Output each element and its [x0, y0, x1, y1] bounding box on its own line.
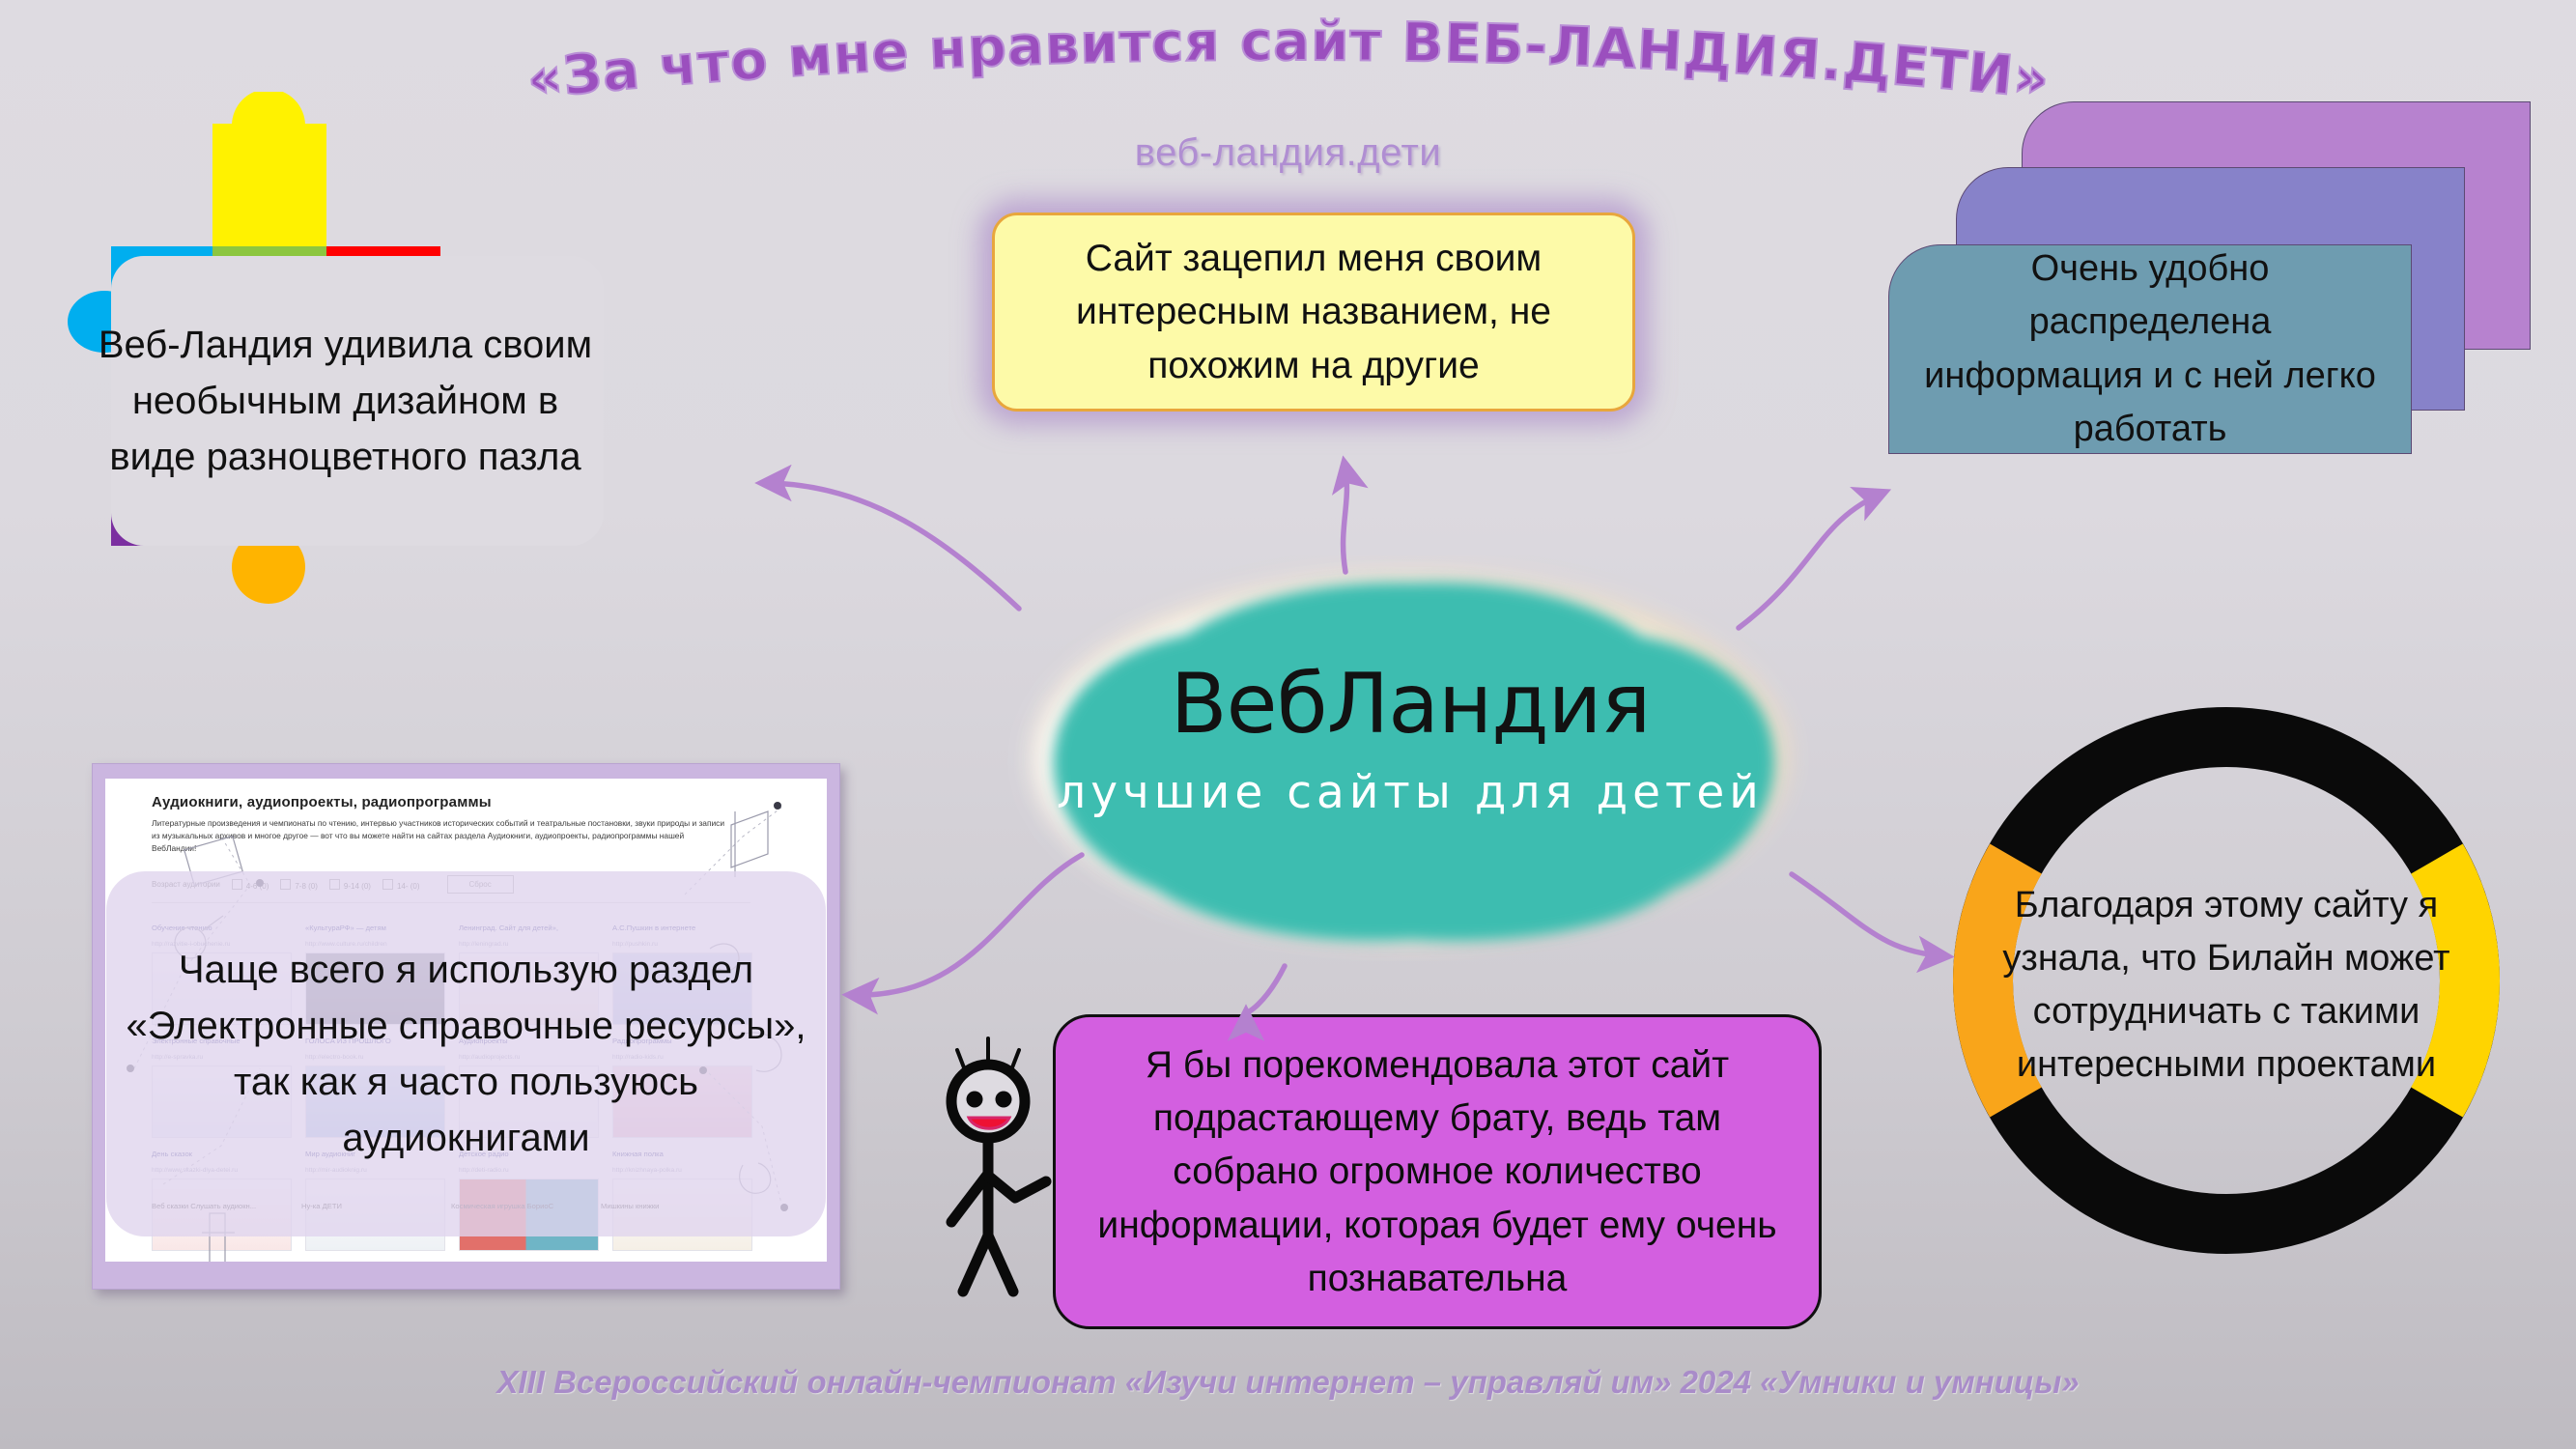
- logo-title: ВебЛандия: [976, 656, 1845, 753]
- callout-stack: Очень удобно распределена информация и с…: [1888, 244, 2412, 454]
- callout-yellow-text: Сайт зацепил меня своим интересным назва…: [995, 232, 1632, 392]
- callout-magenta: Я бы порекомендовала этот сайт подрастаю…: [1053, 1014, 1822, 1329]
- stacked-cards-group: Очень удобно распределена информация и с…: [1888, 101, 2545, 362]
- callout-puzzle-text: Веб-Ландия удивила своим необычным дизай…: [89, 317, 602, 485]
- infographic-canvas: «За что мне нравится сайт ВЕБ-ЛАНДИЯ.ДЕТ…: [0, 0, 2576, 1449]
- callout-screenshot-text: Чаще всего я использую раздел «Электронн…: [106, 942, 826, 1166]
- logo-tagline: лучшие сайты для детей: [976, 766, 1845, 819]
- website-screenshot-card: Аудиокниги, аудиопроекты, радиопрограммы…: [92, 763, 840, 1290]
- callout-yellow: Сайт зацепил меня своим интересным назва…: [992, 213, 1635, 412]
- arrow-to-magenta: [1246, 966, 1285, 1012]
- footer-caption: XIII Всероссийский онлайн-чемпионат «Изу…: [0, 1364, 2576, 1401]
- veblandia-logo: ВебЛандия лучшие сайты для детей: [976, 555, 1845, 961]
- callout-magenta-text: Я бы порекомендовала этот сайт подрастаю…: [1056, 1038, 1819, 1306]
- beeline-logo-ring: Благодаря этому сайту я узнала, что Била…: [1951, 705, 2502, 1256]
- screenshot-heading: Аудиокниги, аудиопроекты, радиопрограммы: [152, 794, 492, 810]
- callout-puzzle: Веб-Ландия удивила своим необычным дизай…: [111, 256, 604, 546]
- callout-ring-text: Благодаря этому сайту я узнала, что Била…: [1985, 879, 2468, 1092]
- screenshot-paragraph: Литературные произведения и чемпионаты п…: [152, 817, 726, 855]
- stick-figure-icon: [922, 1029, 1087, 1304]
- logo-blob-icon: [976, 555, 1845, 961]
- callout-screenshot: Чаще всего я использую раздел «Электронн…: [106, 871, 826, 1236]
- callout-ring: Благодаря этому сайту я узнала, что Била…: [1985, 865, 2468, 1106]
- callout-stack-text: Очень удобно распределена информация и с…: [1889, 242, 2411, 457]
- puzzle-graphic-group: Веб-Ландия удивила своим необычным дизай…: [58, 92, 753, 633]
